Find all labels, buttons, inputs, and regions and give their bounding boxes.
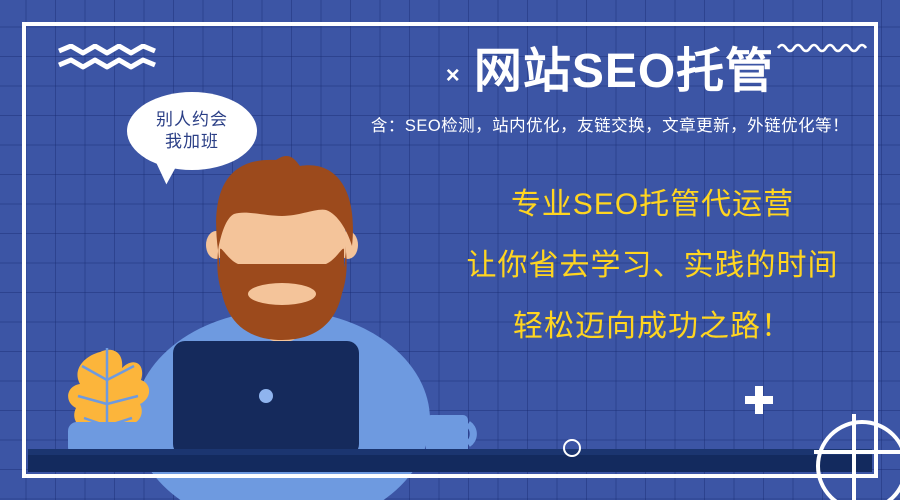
slogan-line-1: 专业SEO托管代运营 <box>430 190 875 220</box>
page-subtitle: 含：SEO检测，站内优化，友链交换，文章更新，外链优化等！ <box>330 112 890 136</box>
slogan-line-2: 让你省去学习、实践的时间 <box>430 251 875 281</box>
speech-bubble-line-2: 我加班 <box>165 131 219 153</box>
laptop-logo-dot <box>259 389 273 403</box>
speech-bubble: 别人约会 我加班 <box>127 92 257 170</box>
plus-mark-icon <box>745 386 773 414</box>
eye-left <box>246 240 266 244</box>
zigzag-lines-icon <box>57 44 157 70</box>
page-title: 网站SEO托管 <box>474 46 774 98</box>
mug-handle <box>468 424 473 444</box>
title-bullet-x-icon: × <box>446 64 460 88</box>
seo-promo-banner: 别人约会 我加班 × 网站SEO托管 含：SEO检测，站内优化，友链交换，文章更… <box>0 0 900 500</box>
eye-right <box>298 240 318 244</box>
title-row: × 网站SEO托管 <box>330 46 890 98</box>
small-circle-outline-icon <box>563 439 581 457</box>
slogan-line-3: 轻松迈向成功之路！ <box>430 312 875 342</box>
mouth <box>248 283 316 305</box>
speech-bubble-line-1: 别人约会 <box>156 109 228 131</box>
headline-block: × 网站SEO托管 含：SEO检测，站内优化，友链交换，文章更新，外链优化等！ <box>330 46 890 136</box>
slogan-block: 专业SEO托管代运营 让你省去学习、实践的时间 轻松迈向成功之路！ <box>430 190 875 342</box>
desk-surface <box>28 455 872 472</box>
circle-crosshair-icon <box>814 414 900 500</box>
